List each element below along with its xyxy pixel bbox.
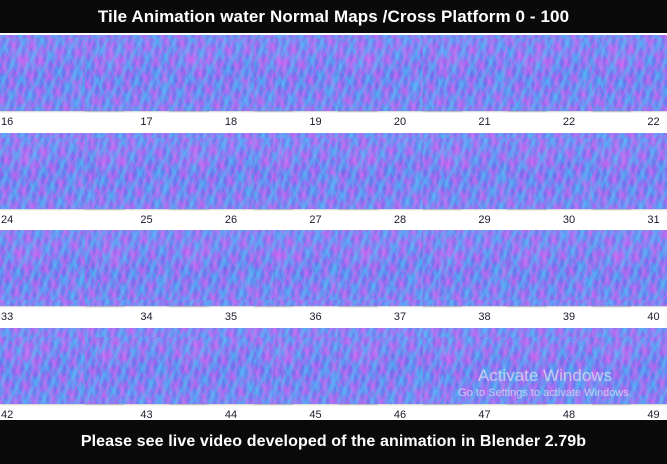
- tile-frame-label: 31: [592, 211, 667, 229]
- tile-cell[interactable]: 31: [592, 133, 667, 231]
- tile-cell[interactable]: 49: [592, 328, 667, 426]
- tile-row: 1617181920212222: [0, 35, 667, 133]
- water-normal-map-tile[interactable]: [592, 230, 667, 306]
- tile-row: 4243444546474849: [0, 328, 667, 426]
- tile-row: 3334353637383940: [0, 230, 667, 328]
- tile-frame-label: 40: [592, 308, 667, 326]
- footer-bar: Please see live video developed of the a…: [0, 420, 667, 464]
- tile-grid: 1617181920212222242526272829303133343536…: [0, 0, 667, 464]
- water-normal-map-tile[interactable]: [592, 35, 667, 111]
- tile-cell[interactable]: 40: [592, 230, 667, 328]
- water-normal-map-tile[interactable]: [592, 133, 667, 209]
- tile-row: 2425262728293031: [0, 133, 667, 231]
- tile-cell[interactable]: 22: [592, 35, 667, 133]
- footer-caption: Please see live video developed of the a…: [81, 433, 586, 451]
- page-title: Tile Animation water Normal Maps /Cross …: [98, 7, 569, 27]
- tile-animation-contact-sheet: 1617181920212222242526272829303133343536…: [0, 0, 667, 464]
- water-normal-map-tile[interactable]: [592, 328, 667, 404]
- header-bar: Tile Animation water Normal Maps /Cross …: [0, 0, 667, 33]
- tile-frame-label: 22: [592, 113, 667, 131]
